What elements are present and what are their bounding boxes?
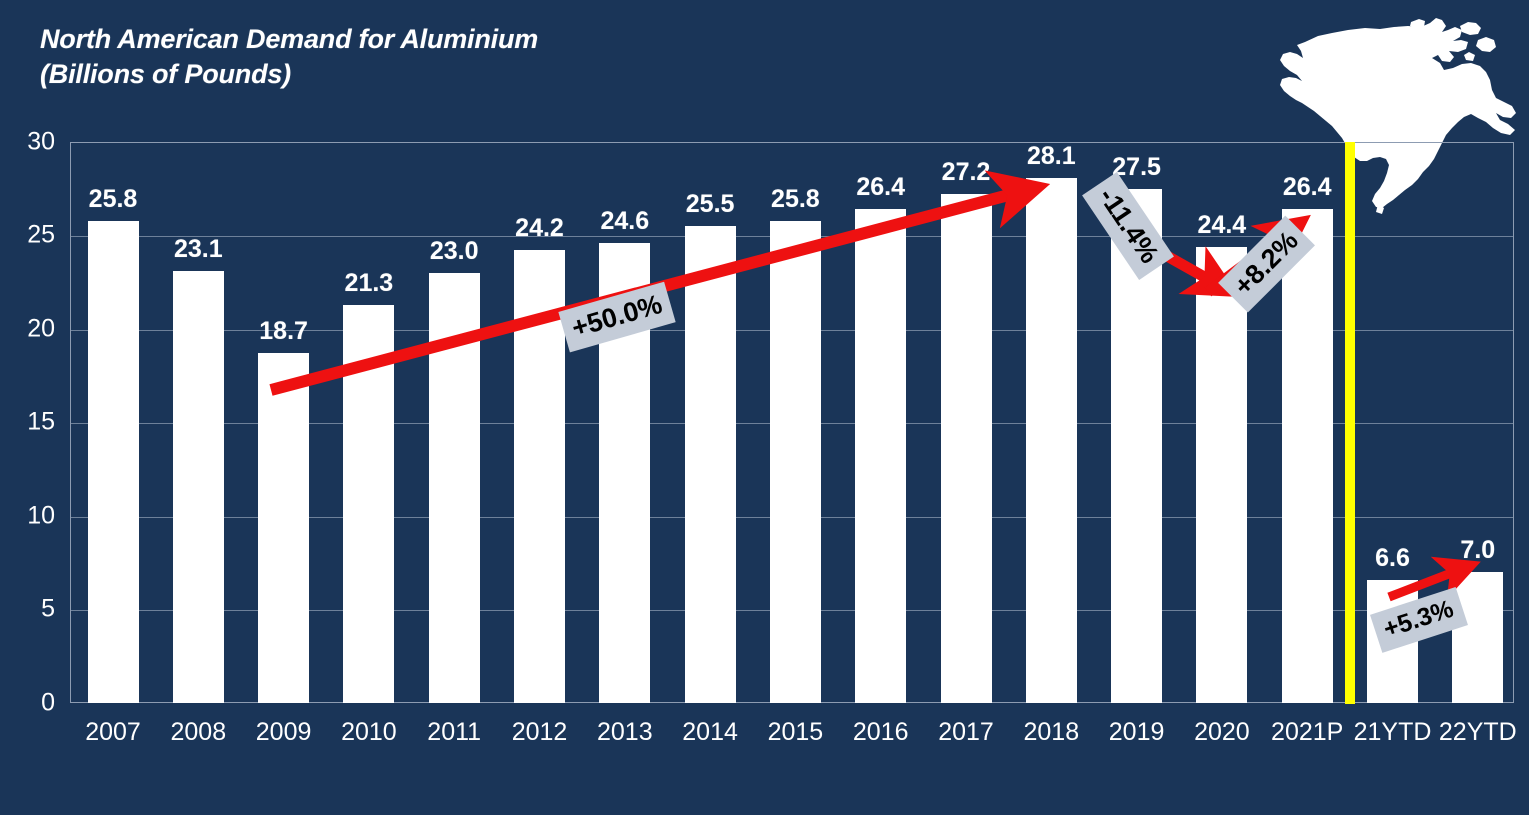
x-tick-2009: 2009 <box>256 718 312 747</box>
y-tick-0: 0 <box>0 689 55 718</box>
bar-value-2016: 26.4 <box>856 173 905 202</box>
x-tick-2013: 2013 <box>597 718 653 747</box>
bar-value-2020: 24.4 <box>1198 211 1247 240</box>
x-tick-2020: 2020 <box>1194 718 1250 747</box>
x-tick-2021P: 2021P <box>1271 718 1343 747</box>
y-tick-30: 30 <box>0 128 55 157</box>
y-tick-25: 25 <box>0 221 55 250</box>
bar-2012 <box>514 250 565 703</box>
bar-value-2008: 23.1 <box>174 235 223 264</box>
bar-2021P <box>1282 209 1333 703</box>
chart-canvas: North American Demand for Aluminium (Bil… <box>0 0 1529 815</box>
x-tick-2011: 2011 <box>427 718 481 747</box>
ytd-divider <box>1345 142 1355 704</box>
bar-value-2010: 21.3 <box>345 269 394 298</box>
bar-value-2011: 23.0 <box>430 237 479 266</box>
bar-2014 <box>685 226 736 703</box>
bar-value-2015: 25.8 <box>771 185 820 214</box>
x-tick-2018: 2018 <box>1023 718 1079 747</box>
bar-2016 <box>855 209 906 703</box>
bar-value-21YTD: 6.6 <box>1375 544 1410 573</box>
y-tick-10: 10 <box>0 502 55 531</box>
bar-value-2007: 25.8 <box>89 185 138 214</box>
y-tick-20: 20 <box>0 315 55 344</box>
bar-2007 <box>88 221 139 703</box>
x-tick-2012: 2012 <box>512 718 568 747</box>
x-tick-21YTD: 21YTD <box>1354 718 1432 747</box>
bar-2011 <box>429 273 480 703</box>
x-tick-2017: 2017 <box>938 718 994 747</box>
bar-2008 <box>173 271 224 703</box>
bar-22YTD <box>1452 572 1503 703</box>
bar-value-2012: 24.2 <box>515 214 564 243</box>
x-tick-22YTD: 22YTD <box>1439 718 1517 747</box>
bar-value-2017: 27.2 <box>942 158 991 187</box>
bar-2010 <box>343 305 394 703</box>
chart-title: North American Demand for Aluminium (Bil… <box>40 22 538 91</box>
bar-2009 <box>258 353 309 703</box>
x-tick-2014: 2014 <box>682 718 738 747</box>
x-tick-2015: 2015 <box>768 718 824 747</box>
bar-value-2018: 28.1 <box>1027 142 1076 171</box>
bar-2020 <box>1196 247 1247 703</box>
bar-2015 <box>770 221 821 703</box>
bar-value-2014: 25.5 <box>686 190 735 219</box>
bar-value-2021P: 26.4 <box>1283 173 1332 202</box>
x-tick-2008: 2008 <box>170 718 226 747</box>
x-tick-2010: 2010 <box>341 718 397 747</box>
y-tick-5: 5 <box>0 595 55 624</box>
x-tick-2007: 2007 <box>85 718 141 747</box>
x-tick-2016: 2016 <box>853 718 909 747</box>
bar-value-2009: 18.7 <box>259 317 308 346</box>
y-tick-15: 15 <box>0 408 55 437</box>
bar-2018 <box>1026 178 1077 703</box>
bar-2017 <box>941 194 992 703</box>
bar-value-2013: 24.6 <box>600 207 649 236</box>
bar-value-22YTD: 7.0 <box>1460 536 1495 565</box>
x-tick-2019: 2019 <box>1109 718 1165 747</box>
